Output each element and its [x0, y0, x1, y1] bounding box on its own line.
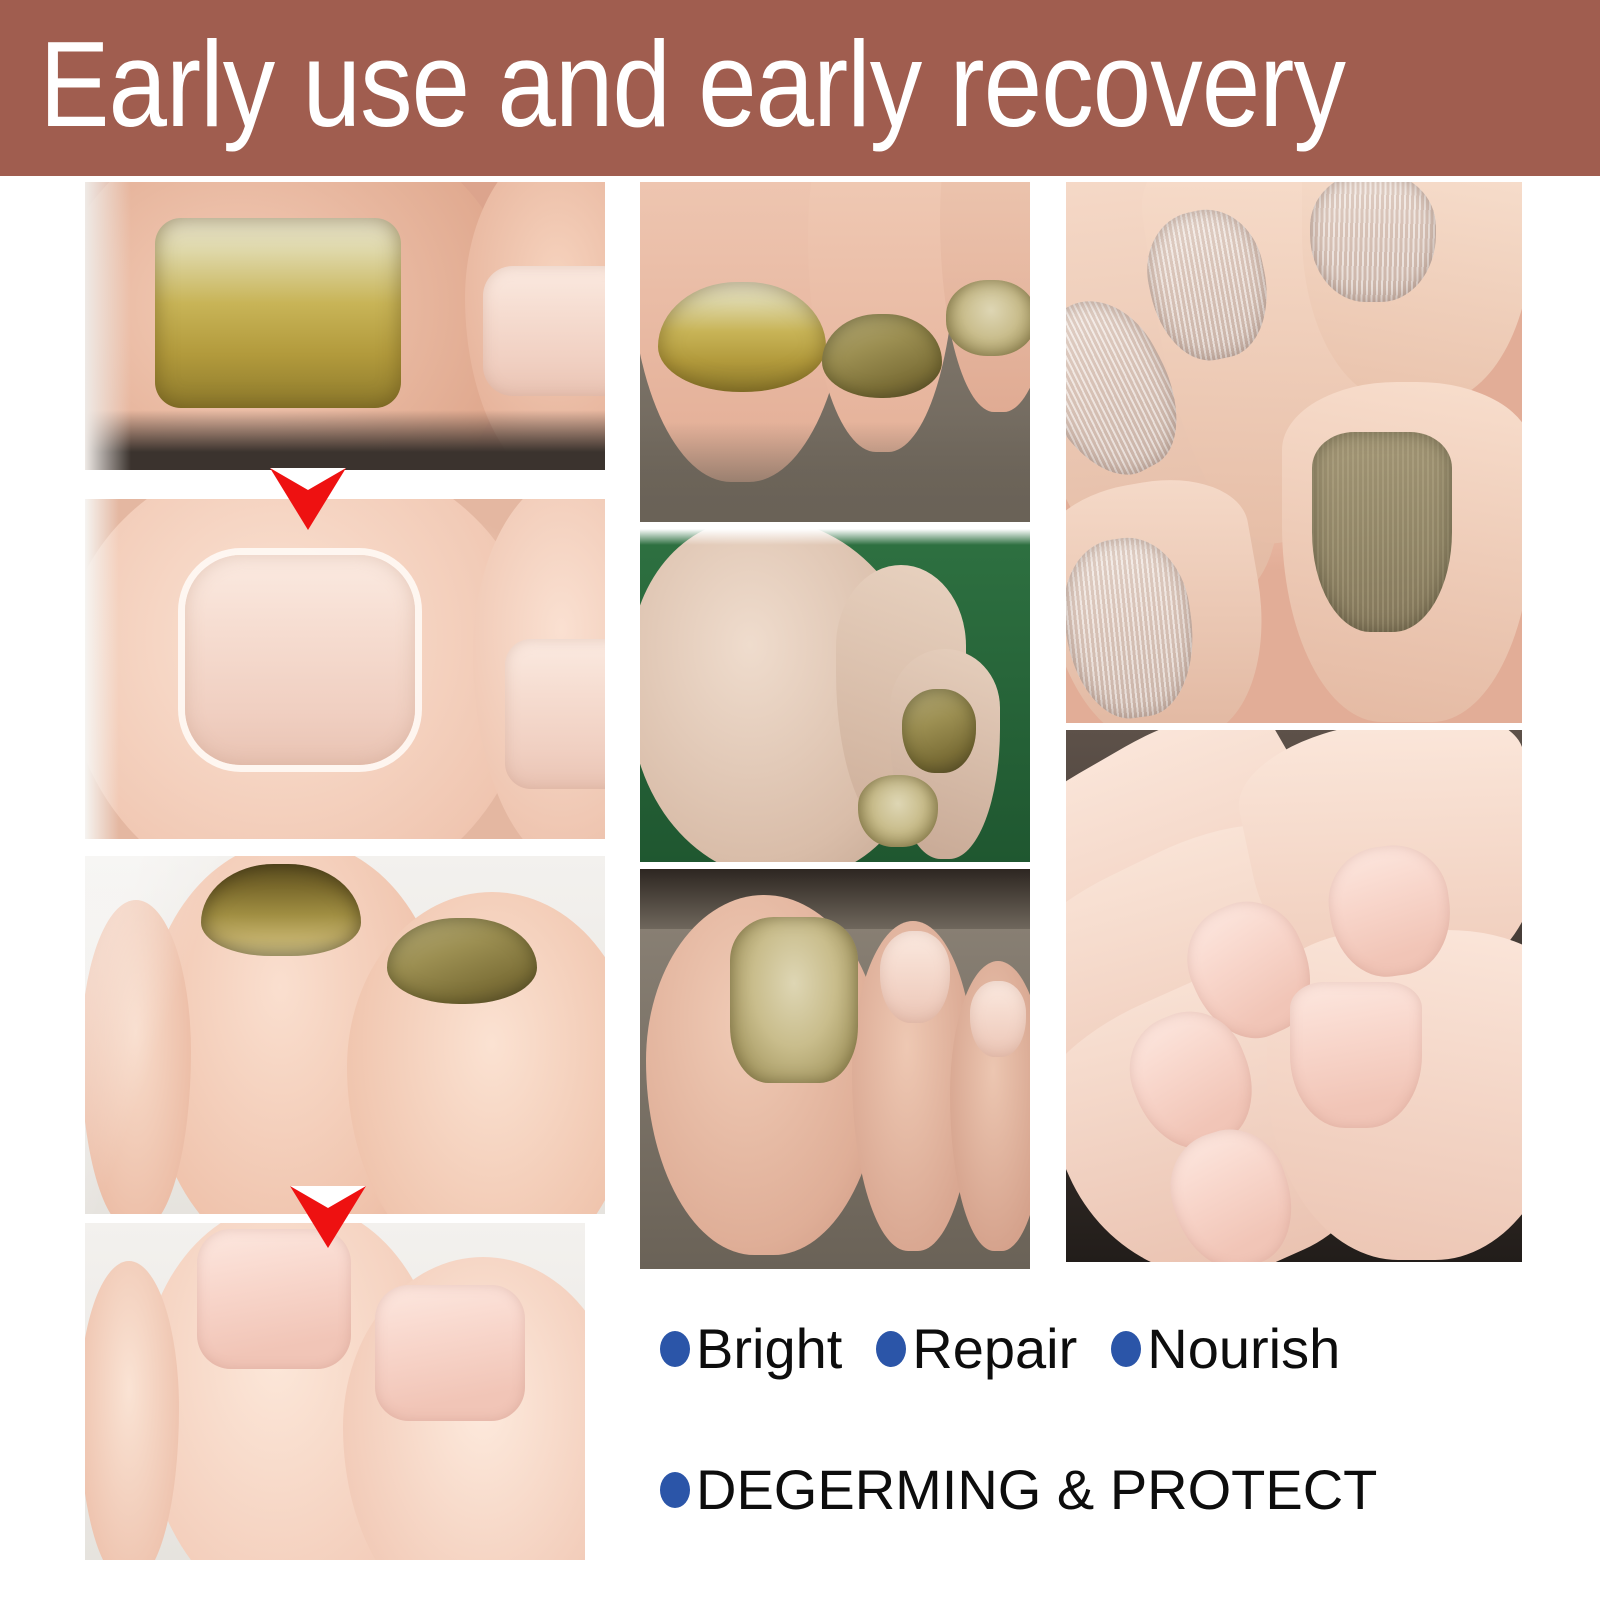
photo-backdrop — [640, 869, 1030, 929]
photo-edge-white — [1052, 730, 1066, 1262]
photo-mid-foot-closeup — [640, 869, 1030, 1269]
bullet-dot-icon-4 — [660, 1472, 690, 1508]
benefit-degerming-protect: DEGERMING & PROTECT — [696, 1457, 1377, 1522]
page-title: Early use and early recovery — [0, 27, 1345, 143]
photo-right-fingernails-damaged — [1052, 182, 1522, 723]
nail-fungal-3 — [946, 280, 1030, 356]
arrow-notch — [270, 468, 346, 490]
nail-healthy — [185, 555, 415, 765]
photo-edge-light — [85, 499, 119, 839]
photo-shadow — [85, 410, 605, 470]
benefit-repair: Repair — [912, 1316, 1077, 1381]
nail-fungal-big — [730, 917, 858, 1083]
benefits-list: Bright Repair Nourish DEGERMING & PROTEC… — [660, 1316, 1540, 1522]
nail-neighbor-1 — [880, 931, 950, 1023]
bullet-dot-icon-2 — [876, 1331, 906, 1367]
nail-damaged-3 — [1310, 182, 1436, 302]
nail-fungal — [155, 218, 401, 408]
photo-left-after-toenail — [85, 499, 605, 839]
toe-shape-small — [85, 1261, 179, 1560]
nail-neighbor — [505, 639, 605, 789]
nail-neighbor-2 — [970, 981, 1026, 1057]
nail-fungal-finger-2 — [858, 775, 938, 847]
photo-highlight — [85, 856, 605, 1214]
photo-edge-light — [640, 529, 1030, 545]
photo-left-before-toes — [85, 856, 605, 1214]
nail-neighbor — [483, 266, 605, 396]
photo-left-after-toes — [85, 1223, 585, 1560]
nail-fungal-finger-1 — [902, 689, 976, 773]
photo-edge-light — [85, 182, 131, 470]
photo-mid-toes-fungal — [640, 182, 1030, 522]
photo-left-before-toenail — [85, 182, 605, 470]
photo-shadow — [640, 422, 1030, 522]
benefits-row-primary: Bright Repair Nourish — [660, 1316, 1540, 1381]
nail-healthy-thumb — [1290, 982, 1422, 1128]
header-banner: Early use and early recovery — [0, 0, 1600, 176]
nail-healthy — [197, 1229, 351, 1369]
photo-edge-white — [1052, 182, 1066, 723]
arrow-notch-2 — [290, 1186, 366, 1208]
nail-fungal-1 — [658, 282, 826, 392]
benefits-row-secondary: DEGERMING & PROTECT — [660, 1457, 1540, 1522]
nail-fungal-2 — [822, 314, 942, 398]
bullet-dot-icon-3 — [1111, 1331, 1141, 1367]
nail-damaged-dark — [1312, 432, 1452, 632]
benefit-bright: Bright — [696, 1316, 842, 1381]
photo-mid-hand-fingers — [640, 529, 1030, 862]
benefit-nourish: Nourish — [1147, 1316, 1340, 1381]
nail-healthy-second — [375, 1285, 525, 1421]
photo-right-fingernails-healthy — [1052, 730, 1522, 1262]
bullet-dot-icon — [660, 1331, 690, 1367]
